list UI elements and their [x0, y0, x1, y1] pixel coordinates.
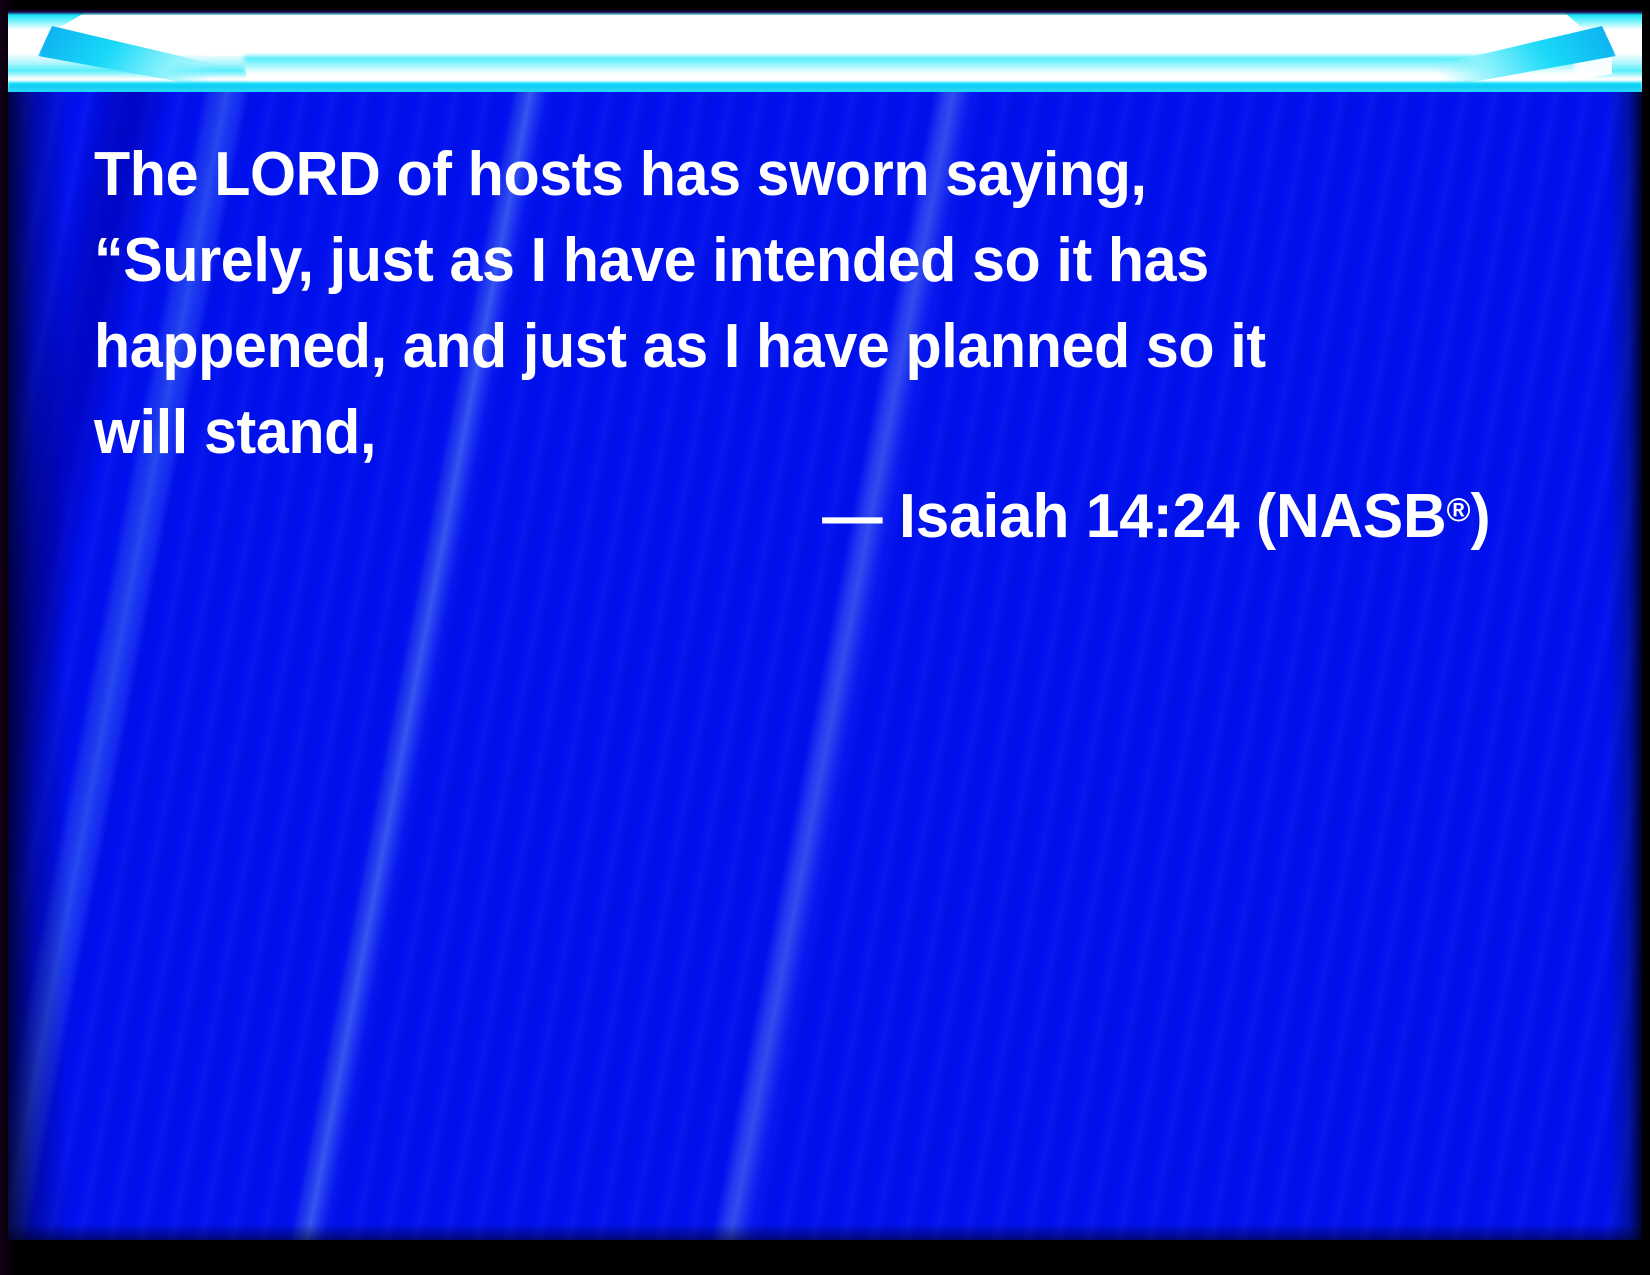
slide-frame: The LORD of hosts has sworn saying, “Sur… [0, 0, 1650, 1275]
verse-citation: — Isaiah 14:24 (NASB®) [822, 468, 1490, 560]
verse-line: The LORD of hosts has sworn saying, [94, 132, 1450, 218]
citation-space [1239, 482, 1256, 551]
close-paren: ) [1470, 482, 1490, 551]
scripture-reference: Isaiah 14:24 [898, 482, 1238, 551]
slide-canvas: The LORD of hosts has sworn saying, “Sur… [8, 10, 1642, 1240]
em-dash: — [822, 482, 899, 551]
verse-line: “Surely, just as I have intended so it h… [94, 218, 1450, 304]
verse-line: will stand, [94, 390, 1450, 476]
registered-trademark-icon: ® [1446, 492, 1470, 529]
open-paren: ( [1256, 482, 1276, 551]
translation-abbreviation: NASB [1275, 482, 1446, 551]
verse-text-block: The LORD of hosts has sworn saying, “Sur… [94, 132, 1514, 476]
verse-line: happened, and just as I have planned so … [94, 304, 1450, 390]
attribution-row: — Isaiah 14:24 (NASB®) [94, 468, 1490, 560]
